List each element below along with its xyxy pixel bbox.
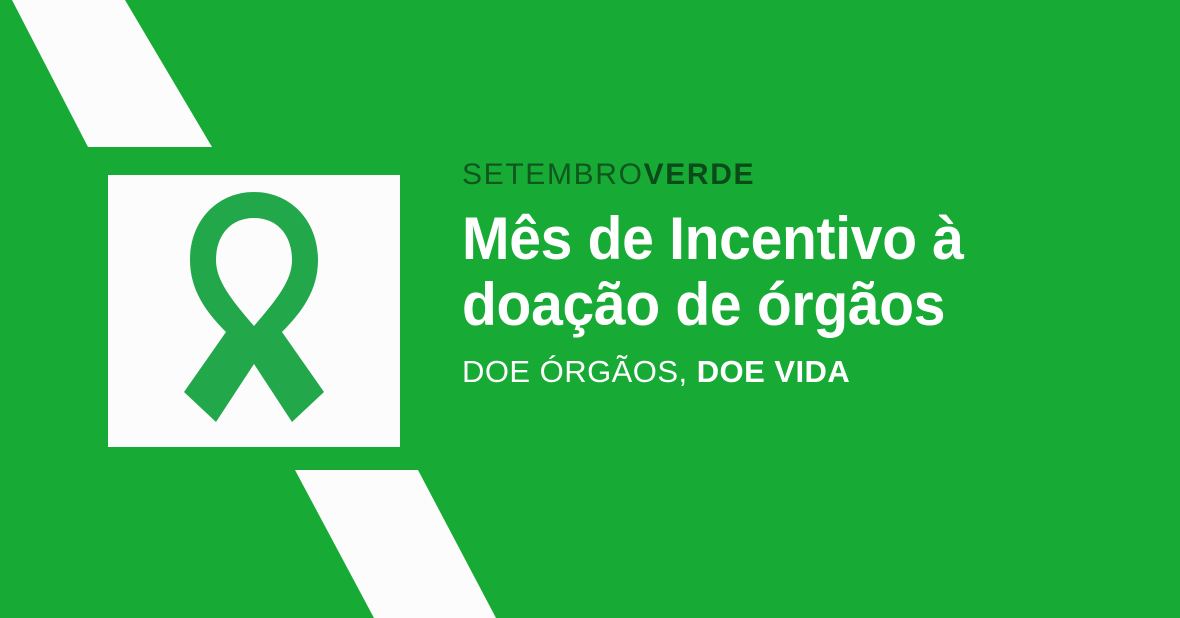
tagline: DOE ÓRGÃOS, DOE VIDA [462,354,1162,390]
page-title: Mês de Incentivo à doação de órgãos [462,206,1127,338]
text-block: SETEMBROVERDE Mês de Incentivo à doação … [462,158,1162,389]
tagline-bold-text: DOE VIDA [697,354,851,389]
poster-canvas: SETEMBROVERDE Mês de Incentivo à doação … [0,0,1180,618]
headline-line-1: Mês de Incentivo à [462,206,1127,272]
tagline-light-text: DOE ÓRGÃOS, [462,354,697,389]
eyebrow-light-text: SETEMBRO [462,158,644,191]
awareness-ribbon-icon [178,186,330,436]
eyebrow-bold-text: VERDE [644,158,756,191]
headline-line-2: doação de órgãos [462,272,1127,338]
diagonal-parallelogram-top-left [0,0,260,148]
logo-plate [108,175,400,447]
diagonal-parallelogram-bottom-center [260,470,540,618]
eyebrow-setembro-verde: SETEMBROVERDE [462,158,1162,192]
